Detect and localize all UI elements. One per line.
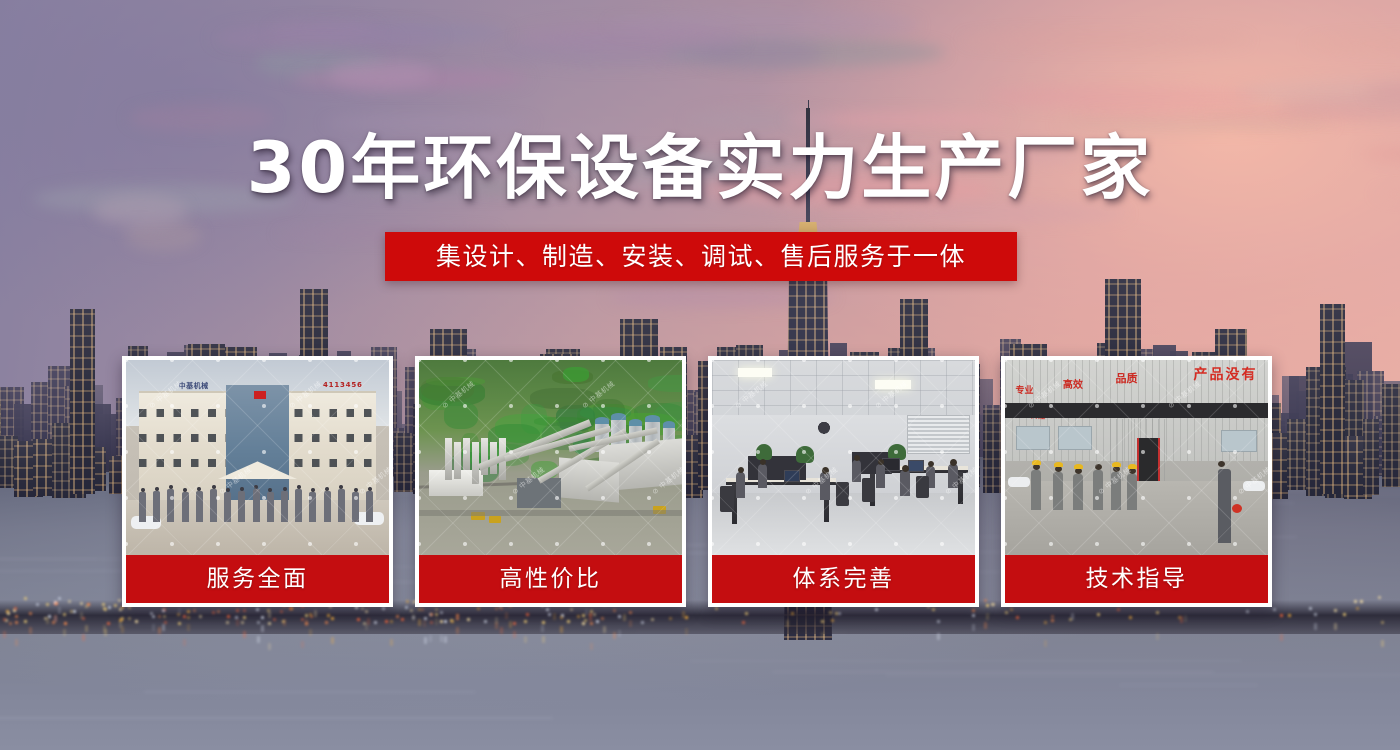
flag-icon xyxy=(254,391,266,399)
feature-card-1[interactable]: 中基机械 4113456 ⊘ 中基机械⊘ 中基机械⊘ 中基机械⊘ 中基机械 服务… xyxy=(122,356,393,607)
card-2-photo: ⊘ 中基机械⊘ 中基机械⊘ 中基机械⊘ 中基机械 xyxy=(419,360,682,555)
card-1-photo: 中基机械 4113456 ⊘ 中基机械⊘ 中基机械⊘ 中基机械⊘ 中基机械 xyxy=(126,360,389,555)
card-1-label-text: 服务全面 xyxy=(207,568,309,591)
feature-card-2[interactable]: ⊘ 中基机械⊘ 中基机械⊘ 中基机械⊘ 中基机械 高性价比 xyxy=(415,356,686,607)
card-3-photo: ⊘ 中基机械⊘ 中基机械⊘ 中基机械⊘ 中基机械 xyxy=(712,360,975,555)
card-2-label-text: 高性价比 xyxy=(500,568,602,591)
card-4-label-text: 技术指导 xyxy=(1086,568,1188,591)
promotional-banner-stage: 30年环保设备实力生产厂家 集设计、制造、安装、调试、售后服务于一体 xyxy=(0,0,1400,750)
subtitle-banner: 集设计、制造、安装、调试、售后服务于一体 xyxy=(385,232,1017,281)
card-3-label-text: 体系完善 xyxy=(793,568,895,591)
card-4-label: 技术指导 xyxy=(1005,555,1268,603)
feature-card-list: 中基机械 4113456 ⊘ 中基机械⊘ 中基机械⊘ 中基机械⊘ 中基机械 服务… xyxy=(122,356,1278,607)
safety-helmet-icon xyxy=(1232,504,1242,513)
card-3-label: 体系完善 xyxy=(712,555,975,603)
factory-sign-text: 产品没有 xyxy=(1193,364,1257,384)
card-1-label: 服务全面 xyxy=(126,555,389,603)
card-4-photo: 产品没有 专业高效品质辉煌 ⊘ 中基机械⊘ 中基机械⊘ 中基 xyxy=(1005,360,1268,555)
subtitle-text: 集设计、制造、安装、调试、售后服务于一体 xyxy=(436,244,966,269)
feature-card-4[interactable]: 产品没有 专业高效品质辉煌 ⊘ 中基机械⊘ 中基机械⊘ 中基 xyxy=(1001,356,1272,607)
building-sign-text: 中基机械 xyxy=(179,381,209,391)
building-phone-text: 4113456 xyxy=(323,381,363,389)
wall-logo-icon xyxy=(807,419,841,441)
card-2-label: 高性价比 xyxy=(419,555,682,603)
feature-card-3[interactable]: ⊘ 中基机械⊘ 中基机械⊘ 中基机械⊘ 中基机械 体系完善 xyxy=(708,356,979,607)
page-title: 30年环保设备实力生产厂家 xyxy=(0,129,1400,207)
